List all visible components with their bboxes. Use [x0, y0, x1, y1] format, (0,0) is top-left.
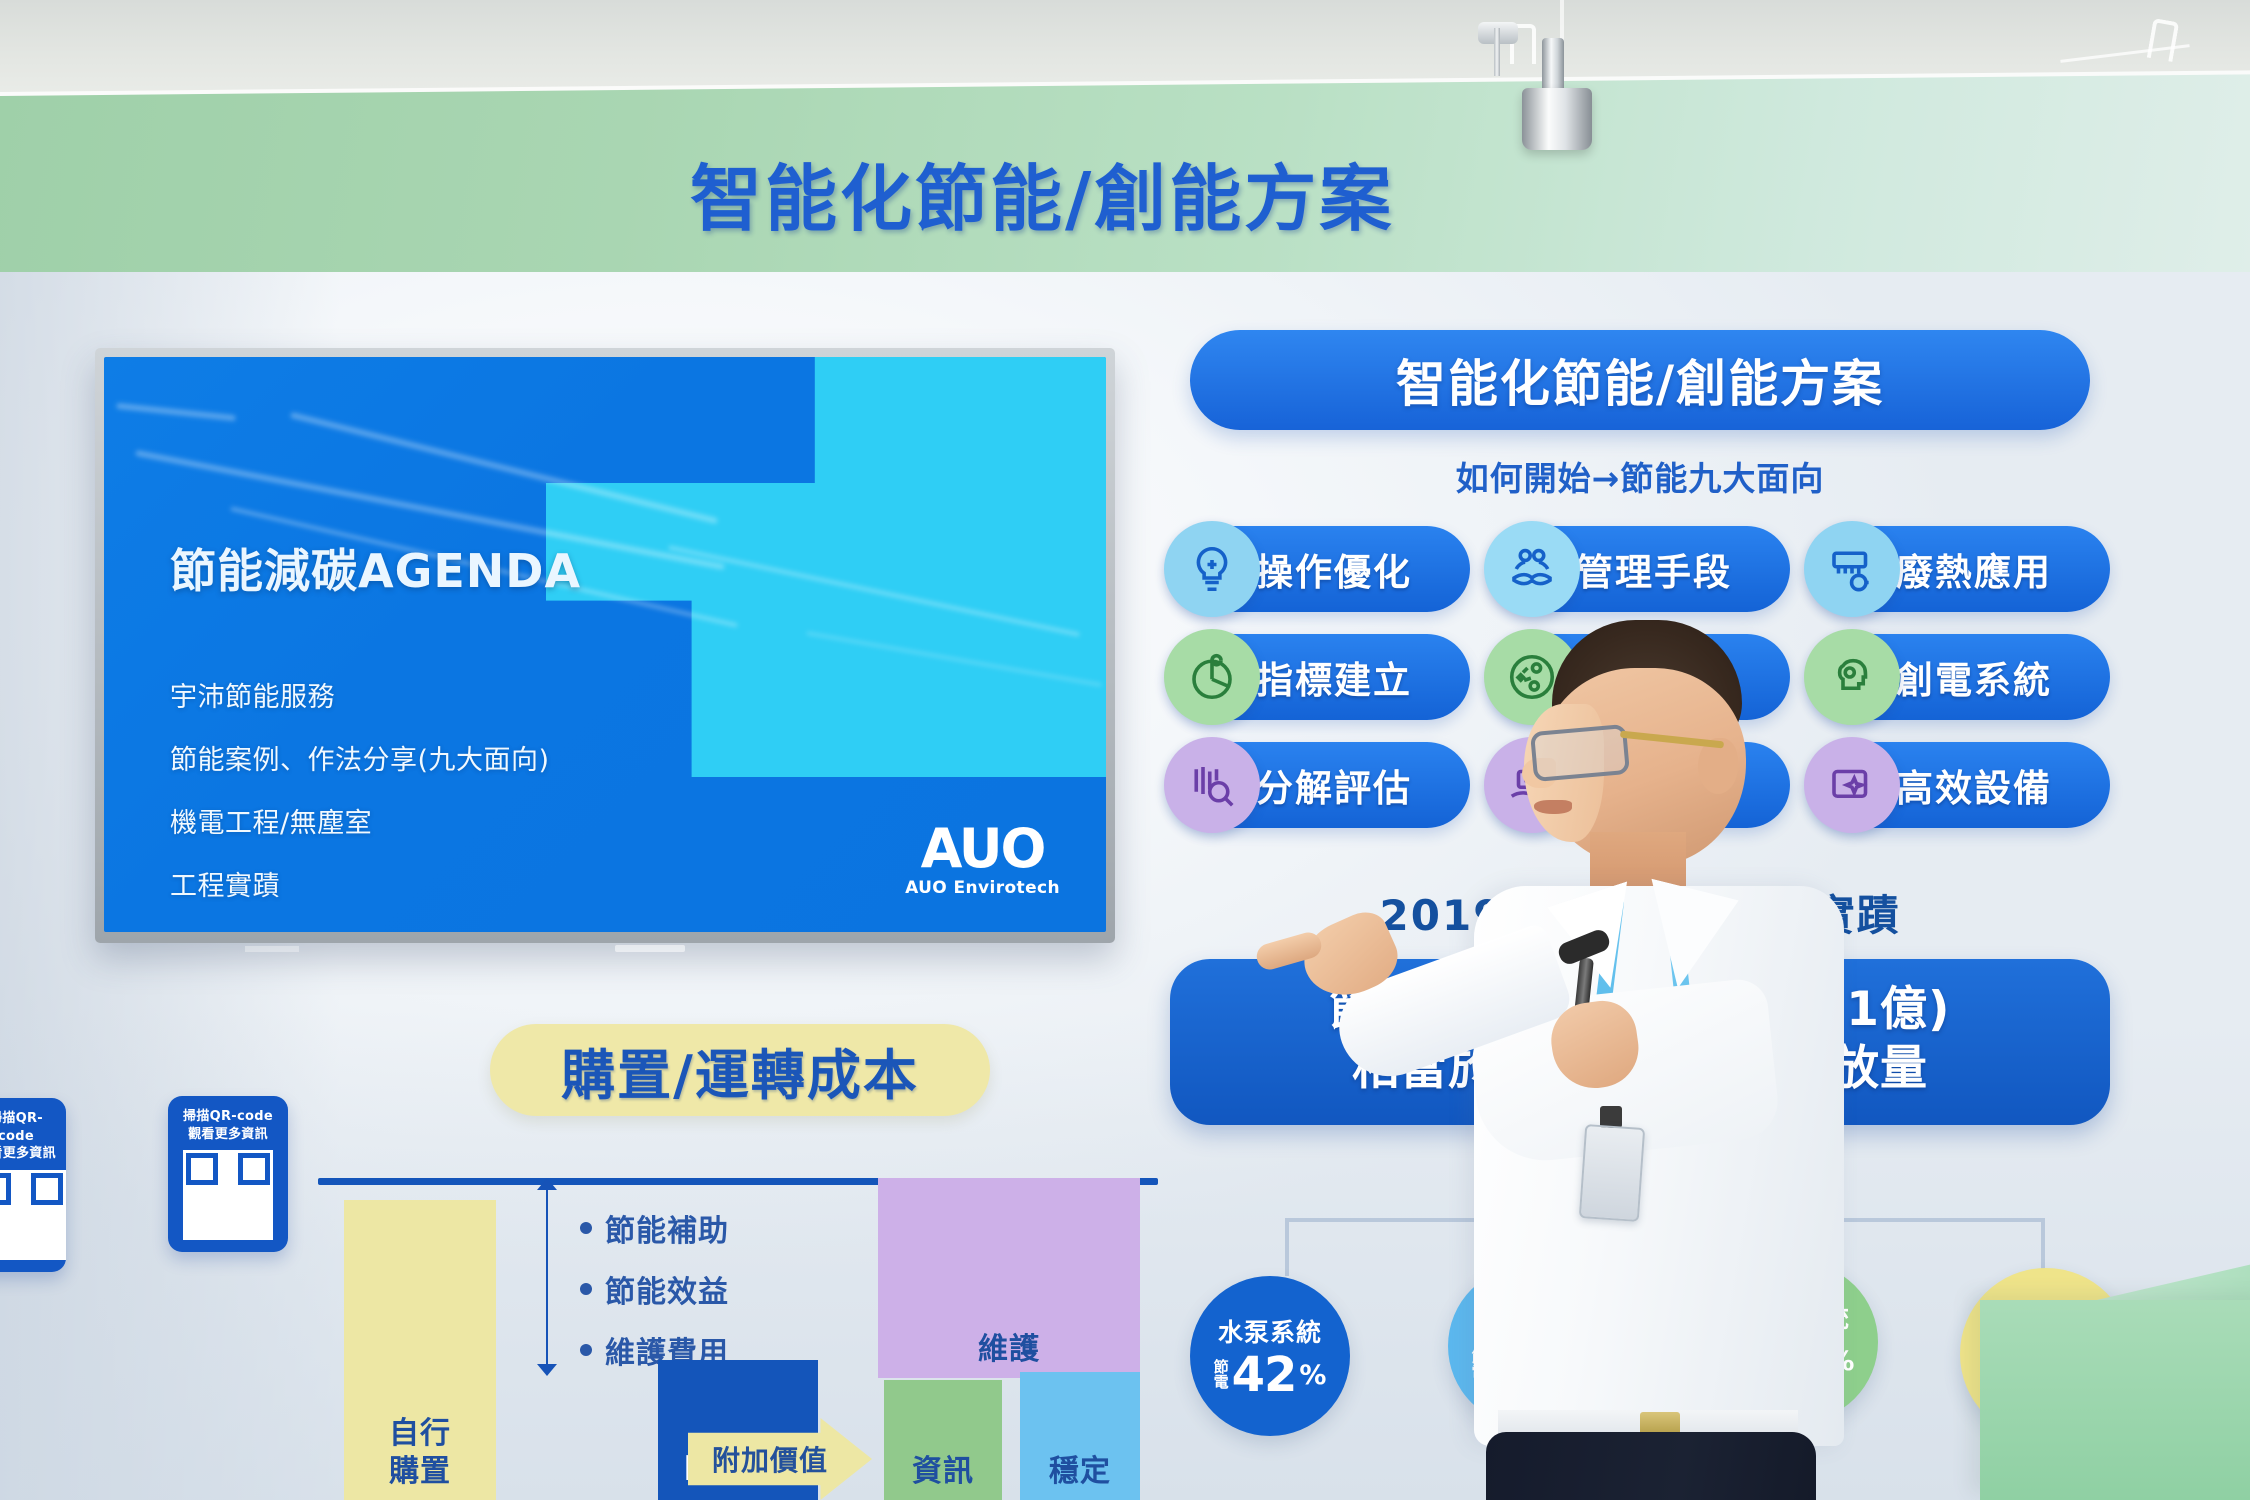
cost-section-title-pill: 購置/運轉成本 — [490, 1024, 990, 1116]
aspect-pill-label: 廢熱應用 — [1896, 542, 2052, 596]
tv-indicator-light — [615, 945, 685, 952]
chart-bar-label: 自行購置 — [389, 1415, 451, 1490]
savings-tag: 節電 — [1214, 1360, 1229, 1390]
qr-code-image — [183, 1150, 273, 1240]
cost-comparison-chart: 自行購置 節能補助 節能效益 維護費用 維護 ESCO 附加價值 資訊 穩定 — [318, 1178, 1158, 1500]
list-item: 宇沛節能服務 — [170, 675, 550, 714]
bullet-dot-icon — [580, 1344, 592, 1356]
display-pedestal — [1980, 1300, 2250, 1500]
aspect-pill-waste-heat[interactable]: 廢熱應用 — [1810, 526, 2110, 612]
bullet-dot-icon — [580, 1222, 592, 1234]
id-badge — [1579, 1124, 1645, 1222]
glasses-icon — [1530, 724, 1630, 782]
aspect-pill-label: 創電系統 — [1896, 650, 2052, 704]
aspect-pill-label: 操作優化 — [1256, 542, 1412, 596]
qr-code-card[interactable]: 掃描QR-code觀看更多資訊 — [0, 1098, 66, 1272]
lightbulb-icon — [1164, 521, 1260, 617]
savings-name: 水泵系統 — [1218, 1313, 1322, 1349]
spotlight-head-icon — [1522, 88, 1592, 150]
presenter — [1430, 620, 1850, 1500]
cost-section-title: 購置/運轉成本 — [561, 1031, 919, 1110]
savings-circle-pump: 水泵系統 節電 42 % — [1190, 1276, 1350, 1436]
aspect-pill-label: 高效設備 — [1896, 758, 2052, 812]
chart-bar-info: 資訊 — [884, 1380, 1002, 1500]
qr-caption: 掃描QR-code觀看更多資訊 — [178, 1108, 278, 1143]
tv-screen: 節能減碳AGENDA 宇沛節能服務 節能案例、作法分享(九大面向) 機電工程/無… — [104, 357, 1106, 932]
presenter-mouth — [1534, 800, 1572, 814]
tv-mount — [245, 946, 299, 952]
chart-bar-self-purchase: 自行購置 — [344, 1200, 496, 1500]
presenter-trousers — [1486, 1432, 1816, 1500]
chart-bar-stability: 穩定 — [1020, 1372, 1140, 1500]
aspect-pill-efficient-equipment[interactable]: 高效設備 — [1810, 742, 2110, 828]
people-care-icon — [1484, 521, 1580, 617]
aspect-pill-analysis[interactable]: 分解評估 — [1170, 742, 1470, 828]
exhibition-booth-scene: 智能化節能/創能方案 節能減碳AGENDA 宇沛節能服務 節能案例、作法分享(九… — [0, 0, 2250, 1500]
auo-logo-subtitle: AUO Envirotech — [905, 878, 1060, 898]
chart-bar-maintenance: 維護 — [878, 1178, 1140, 1378]
spotlight-neck — [1542, 38, 1564, 92]
pie-chart-icon — [1164, 629, 1260, 725]
savings-value: 42 — [1232, 1351, 1297, 1399]
qr-code-image — [0, 1170, 66, 1260]
list-item: 節能補助 — [580, 1206, 729, 1250]
chart-bar-label: 資訊 — [912, 1453, 974, 1491]
aspect-pill-kpi[interactable]: 指標建立 — [1170, 634, 1470, 720]
poster-header-pill: 智能化節能/創能方案 — [1190, 330, 2090, 430]
data-search-icon — [1164, 737, 1260, 833]
chart-savings-arrow — [546, 1188, 548, 1366]
list-item: 工程實蹟 — [170, 864, 550, 903]
savings-percent-sign: % — [1299, 1360, 1326, 1391]
slide-streak — [116, 403, 236, 422]
aspect-pill-power-generation[interactable]: 創電系統 — [1810, 634, 2110, 720]
auo-logo: AUO AUO Envirotech — [905, 823, 1060, 898]
factory-heat-icon — [1804, 521, 1900, 617]
aspect-pill-label: 分解評估 — [1256, 758, 1412, 812]
qr-caption: 掃描QR-code觀看更多資訊 — [0, 1110, 56, 1163]
list-item: 節能案例、作法分享(九大面向) — [170, 738, 550, 777]
benefit-label: 節能效益 — [605, 1267, 729, 1311]
benefit-label: 節能補助 — [605, 1206, 729, 1250]
qr-code-card[interactable]: 掃描QR-code觀看更多資訊 — [168, 1096, 288, 1252]
list-item: 機電工程/無塵室 — [170, 801, 550, 840]
slide-agenda-list: 宇沛節能服務 節能案例、作法分享(九大面向) 機電工程/無塵室 工程實蹟 — [170, 675, 550, 903]
aspect-pill-label: 指標建立 — [1256, 650, 1412, 704]
auo-logo-mark: AUO — [905, 823, 1060, 875]
chart-bar-label: 穩定 — [1049, 1453, 1111, 1491]
booth-banner-title: 智能化節能/創能方案 — [690, 140, 1394, 245]
aspect-pill-operation[interactable]: 操作優化 — [1170, 526, 1470, 612]
aspect-pill-management[interactable]: 管理手段 — [1490, 526, 1790, 612]
bullet-dot-icon — [580, 1283, 592, 1295]
chart-bar-label: 附加價值 — [712, 1439, 828, 1479]
spotlight-arm — [1494, 28, 1500, 76]
slide-streak — [290, 412, 718, 524]
poster-subtitle: 如何開始→節能九大面向 — [1170, 452, 2110, 500]
poster-header-title: 智能化節能/創能方案 — [1396, 344, 1884, 416]
slide-cyan-shape — [546, 357, 1106, 777]
presentation-tv: 節能減碳AGENDA 宇沛節能服務 節能案例、作法分享(九大面向) 機電工程/無… — [95, 348, 1115, 943]
chart-bar-label: 維護 — [978, 1331, 1040, 1369]
list-item: 節能效益 — [580, 1267, 729, 1311]
aspect-pill-label: 管理手段 — [1576, 542, 1732, 596]
chart-benefit-list: 節能補助 節能效益 維護費用 — [580, 1206, 729, 1372]
slide-title: 節能減碳AGENDA — [170, 535, 581, 601]
